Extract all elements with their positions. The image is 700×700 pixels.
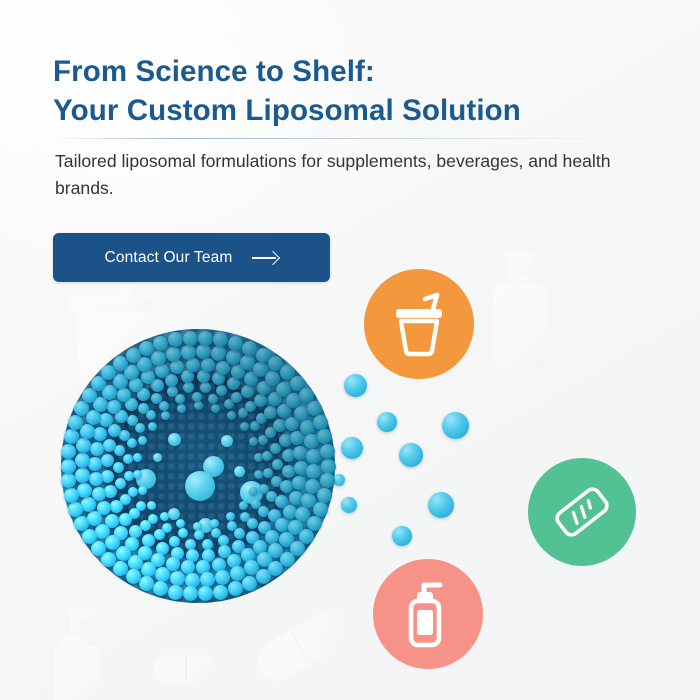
headline-line-1: From Science to Shelf: — [53, 55, 375, 88]
cup-lid-shape — [68, 297, 152, 313]
liposome-bead — [265, 530, 279, 544]
liposome-bead — [192, 392, 202, 402]
beverage-cup-icon — [389, 291, 449, 357]
liposome-bead — [129, 378, 143, 392]
encapsulated-payload-sphere — [234, 466, 245, 477]
liposome-bead — [61, 444, 76, 459]
liposome-bead — [169, 536, 180, 547]
pump-body-shape — [54, 646, 100, 700]
liposome-bead — [103, 439, 116, 452]
liposome-bead — [273, 419, 286, 432]
liposome-bead — [320, 444, 335, 459]
page-title: From Science to Shelf: Your Custom Lipos… — [53, 52, 653, 130]
liposome-bead — [148, 422, 157, 431]
liposome-bead — [116, 546, 131, 561]
watermark-capsule — [250, 602, 360, 689]
liposome-bead — [88, 457, 102, 471]
liposome-bead — [141, 562, 156, 577]
liposome-bead — [126, 569, 141, 584]
liposome-bead — [213, 585, 228, 600]
liposome-bead — [90, 442, 104, 456]
contact-our-team-button[interactable]: Contact Our Team — [53, 233, 330, 282]
liposome-bead — [242, 341, 257, 356]
pump-head-shape — [66, 607, 107, 618]
watermark-tablet — [153, 655, 217, 683]
liposome-bead — [181, 345, 196, 360]
encapsulated-payload-sphere — [168, 508, 180, 520]
liposome-bead — [228, 581, 243, 596]
bottle-neck-shape — [511, 276, 529, 286]
liposome-bead — [113, 462, 124, 473]
liposome-bead — [320, 473, 335, 488]
arrow-right-icon — [252, 252, 278, 264]
liposome-bead — [177, 404, 186, 413]
liposome-bead — [64, 429, 79, 444]
liposome-bead — [242, 576, 257, 591]
liposome-bead — [75, 468, 90, 483]
released-payload-particle — [333, 474, 345, 486]
liposome-bead — [307, 401, 322, 416]
liposome-bead — [166, 347, 181, 362]
liposome-bead — [183, 331, 198, 346]
watermark-pump-bottle — [52, 607, 110, 700]
released-payload-particle — [442, 412, 469, 439]
released-payload-particle — [344, 374, 367, 397]
subtitle: Tailored liposomal formulations for supp… — [55, 148, 670, 201]
encapsulated-payload-sphere — [168, 433, 181, 446]
liposome-bead — [167, 386, 178, 397]
liposome-bead — [168, 585, 183, 600]
liposome-bead — [159, 401, 169, 411]
liposome-bead — [133, 453, 142, 462]
liposome-bead — [95, 524, 110, 539]
liposome-bead — [64, 488, 79, 503]
liposome-bead — [153, 336, 168, 351]
released-payload-particle — [341, 437, 363, 459]
liposome-bead — [198, 331, 213, 346]
encapsulated-payload-sphere — [153, 453, 162, 462]
liposome-bead — [119, 513, 132, 526]
liposome-bead — [226, 350, 241, 365]
liposome-bead — [110, 500, 123, 513]
encapsulated-payload-sphere — [221, 435, 233, 447]
sachet-application[interactable]: Sachets — [528, 458, 636, 566]
liposome-bead — [240, 422, 249, 431]
liposome-bead — [77, 483, 92, 498]
bottle-application[interactable]: Supplements — [373, 559, 483, 669]
liposome-vesicle — [61, 329, 335, 603]
liposome-bead — [227, 411, 236, 420]
liposome-bead — [82, 529, 97, 544]
liposome-bead — [80, 424, 95, 439]
pump-stem-shape — [70, 615, 80, 641]
liposome-bead — [147, 501, 156, 510]
liposome-bead — [139, 341, 154, 356]
beverage-application[interactable]: Beverages — [364, 269, 474, 379]
liposome-bead — [154, 529, 165, 540]
bottle-cap-shape — [507, 252, 533, 278]
liposome-bead — [313, 415, 328, 430]
liposome-bead — [321, 459, 336, 474]
liposome-bead — [75, 453, 90, 468]
liposome-bead — [113, 561, 128, 576]
watermark-dropper-bottle — [489, 252, 551, 370]
liposome-bead — [186, 358, 200, 372]
released-payload-particle — [399, 443, 423, 467]
liposome-bead — [256, 569, 271, 584]
liposome-bead — [161, 411, 170, 420]
headline-line-2: Your Custom Liposomal Solution — [53, 91, 653, 130]
released-payload-particle — [377, 412, 397, 432]
released-payload-particle — [428, 492, 454, 518]
liposome-bead — [133, 470, 142, 479]
liposome-bead — [317, 429, 332, 444]
liposome-bead — [249, 437, 258, 446]
liposome-bead — [89, 472, 103, 486]
pump-bottle-icon — [400, 579, 456, 649]
liposome-bead — [275, 518, 289, 532]
sachet-packet-icon — [549, 479, 615, 545]
released-payload-particle — [392, 526, 412, 546]
liposome-bead — [101, 470, 114, 483]
pump-collar-shape — [59, 637, 93, 648]
liposome-bead — [124, 471, 134, 481]
hero-banner: From Science to Shelf: Your Custom Lipos… — [0, 0, 700, 700]
bottle-body-shape — [493, 284, 547, 370]
headline-divider — [53, 138, 620, 139]
encapsulated-payload-sphere — [185, 471, 215, 501]
liposome-bead — [61, 459, 76, 474]
liposome-bead — [249, 487, 258, 496]
liposome-bead — [317, 488, 332, 503]
liposome-bead — [181, 560, 195, 574]
liposome-bead — [127, 438, 137, 448]
liposome-bead — [200, 382, 211, 393]
liposome-bead — [178, 528, 188, 538]
released-payload-particle — [341, 497, 357, 513]
liposome-bead — [108, 424, 121, 437]
liposome-bead — [228, 336, 243, 351]
liposome-bead — [241, 385, 254, 398]
cta-label: Contact Our Team — [105, 249, 233, 267]
liposome-bead — [234, 528, 245, 539]
liposome-bead — [211, 404, 220, 413]
liposome-bead — [139, 576, 154, 591]
liposome-bead — [138, 403, 149, 414]
liposome-bead — [68, 415, 83, 430]
liposome-bead — [201, 358, 215, 372]
liposome-bead — [170, 571, 185, 586]
liposome-bead — [101, 454, 114, 467]
liposome-bead — [129, 525, 142, 538]
liposome-bead — [263, 468, 273, 478]
cup-straw-shape — [116, 282, 133, 317]
